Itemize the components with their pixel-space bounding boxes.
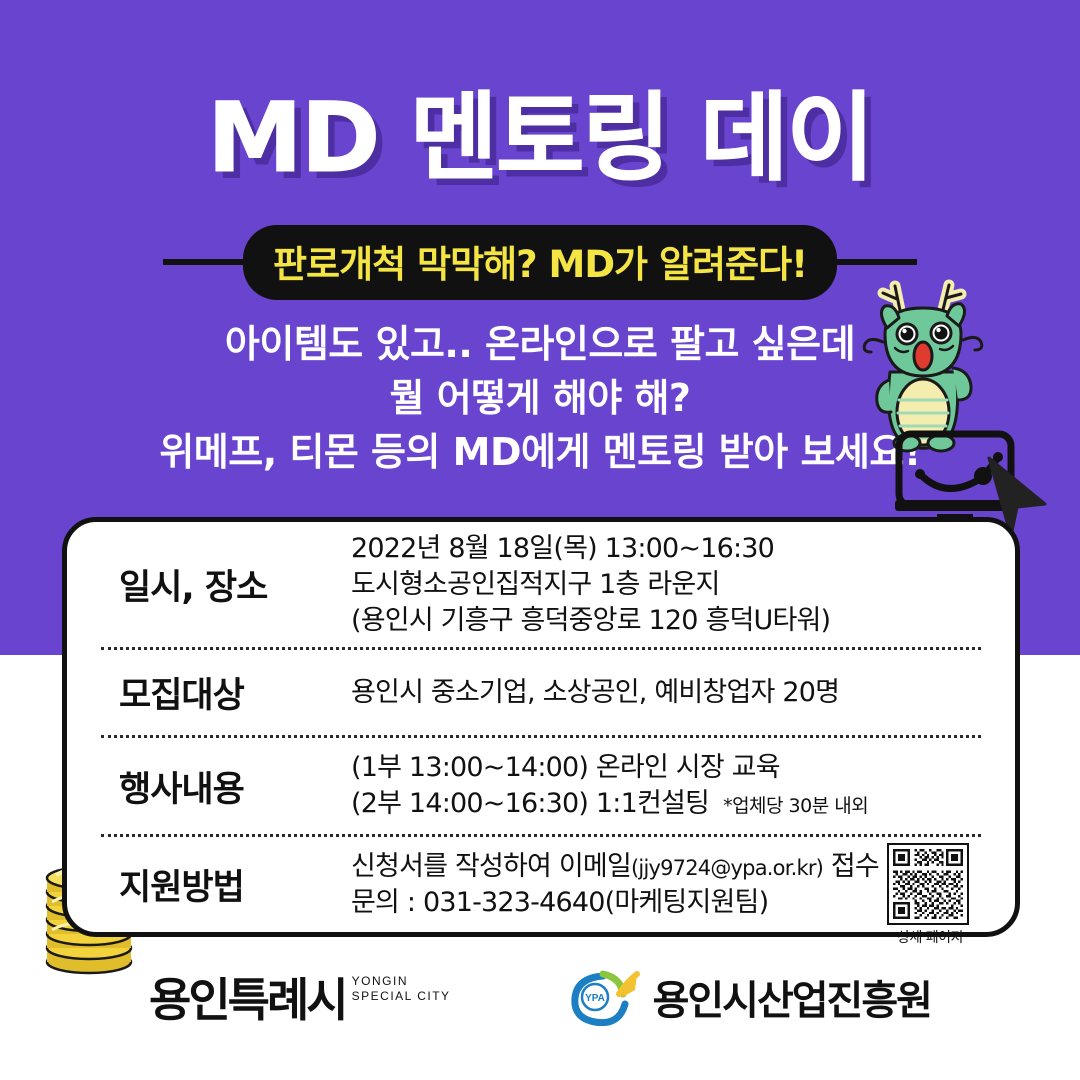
row-value-datetime-place: 2022년 8월 18일(목) 13:00~16:30 도시형소공인집적지구 1…	[351, 531, 981, 639]
poster-root: MD 멘토링 데이 판로개척 막막해? MD가 알려준다! 아이템도 있고.. …	[0, 0, 1080, 1080]
table-row: 모집대상 용인시 중소기업, 소상공인, 예비창업자 20명	[101, 647, 981, 735]
logo-yongin-ko: 용인특례시	[149, 964, 346, 1030]
table-row: 지원방법 신청서를 작성하여 이메일(jjy9724@ypa.or.kr) 접수…	[101, 834, 981, 932]
logo-yongin-en: YONGIN SPECIAL CITY	[352, 974, 451, 1004]
qr-code-block[interactable]: 상세 페이지	[887, 843, 973, 947]
apply-email[interactable]: (jjy9724@ypa.or.kr)	[631, 856, 823, 880]
row-label-apply: 지원방법	[101, 859, 351, 910]
logo-yongin-en-line1: YONGIN	[352, 974, 408, 988]
info-rows: 일시, 장소 2022년 8월 18일(목) 13:00~16:30 도시형소공…	[67, 522, 1015, 932]
row-value-line: 용인시 중소기업, 소상공인, 예비창업자 20명	[351, 675, 981, 711]
row-value-line: (용인시 기흥구 흥덕중앙로 120 흥덕U타워)	[351, 603, 981, 639]
program-note: *업체당 30분 내외	[723, 795, 868, 817]
row-value-line-with-note: (2부 14:00~16:30) 1:1컨설팅*업체당 30분 내외	[351, 786, 981, 822]
footer-logos: 용인특례시 YONGIN SPECIAL CITY YPA 용인시산업진흥원	[0, 952, 1080, 1042]
apply-text-pre: 신청서를 작성하여 이메일	[351, 851, 631, 882]
qr-caption: 상세 페이지	[887, 927, 973, 947]
row-value-target: 용인시 중소기업, 소상공인, 예비창업자 20명	[351, 675, 981, 711]
logo-ypa-ko: 용인시산업진흥원	[653, 968, 931, 1026]
row-value-line: (1부 13:00~14:00) 온라인 시장 교육	[351, 750, 981, 786]
row-label-datetime-place: 일시, 장소	[101, 559, 351, 610]
row-label-program: 행사내용	[101, 761, 351, 812]
row-value-line: 도시형소공인집적지구 1층 라운지	[351, 567, 981, 603]
table-row: 행사내용 (1부 13:00~14:00) 온라인 시장 교육 (2부 14:0…	[101, 735, 981, 835]
apply-text-post: 접수	[823, 851, 879, 882]
page-title: MD 멘토링 데이	[0, 88, 1080, 189]
logo-yongin-en-line2: SPECIAL CITY	[352, 989, 451, 1003]
info-card: 일시, 장소 2022년 8월 18일(목) 13:00~16:30 도시형소공…	[62, 517, 1020, 937]
row-value-program: (1부 13:00~14:00) 온라인 시장 교육 (2부 14:00~16:…	[351, 750, 981, 822]
logo-ypa: YPA 용인시산업진흥원	[569, 968, 931, 1026]
logo-yongin-special-city: 용인특례시 YONGIN SPECIAL CITY	[149, 964, 451, 1030]
ypa-mark-text: YPA	[585, 993, 605, 1004]
qr-code-icon[interactable]	[887, 843, 969, 925]
ypa-swoosh-icon: YPA	[569, 968, 641, 1026]
headline-banner: 판로개척 막막해? MD가 알려준다!	[243, 225, 837, 300]
banner-rule-right-icon	[829, 259, 917, 265]
program-line2-text: (2부 14:00~16:30) 1:1컨설팅	[351, 788, 709, 819]
row-label-target: 모집대상	[101, 667, 351, 718]
banner-rule-left-icon	[163, 259, 251, 265]
table-row: 일시, 장소 2022년 8월 18일(목) 13:00~16:30 도시형소공…	[101, 522, 981, 647]
row-value-line: 2022년 8월 18일(목) 13:00~16:30	[351, 531, 981, 567]
